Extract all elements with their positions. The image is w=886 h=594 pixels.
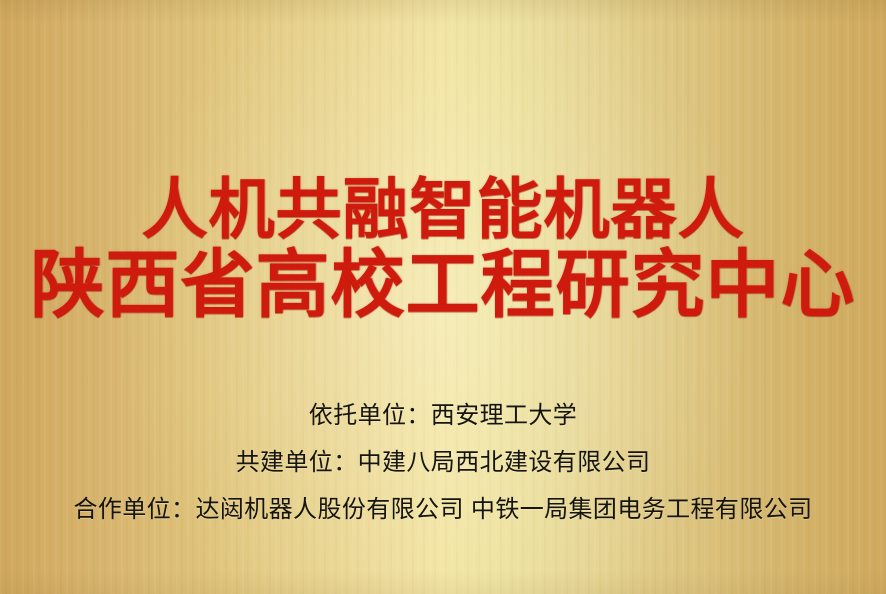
affiliation-line-co-built-unit: 共建单位：中建八局西北建设有限公司: [0, 439, 886, 486]
affiliation-line-supporting-unit: 依托单位：西安理工大学: [0, 392, 886, 439]
affiliation-line-cooperating-unit: 合作单位：达闼机器人股份有限公司 中铁一局集团电务工程有限公司: [0, 486, 886, 533]
gold-plaque: 人机共融智能机器人 陕西省高校工程研究中心 依托单位：西安理工大学 共建单位：中…: [0, 0, 886, 594]
title-line-1: 人机共融智能机器人: [0, 171, 886, 247]
title-line-2: 陕西省高校工程研究中心: [0, 243, 886, 327]
affiliation-list: 依托单位：西安理工大学 共建单位：中建八局西北建设有限公司 合作单位：达闼机器人…: [0, 392, 886, 533]
plaque-content: 人机共融智能机器人 陕西省高校工程研究中心 依托单位：西安理工大学 共建单位：中…: [0, 0, 886, 594]
plaque-title: 人机共融智能机器人 陕西省高校工程研究中心: [0, 171, 886, 327]
